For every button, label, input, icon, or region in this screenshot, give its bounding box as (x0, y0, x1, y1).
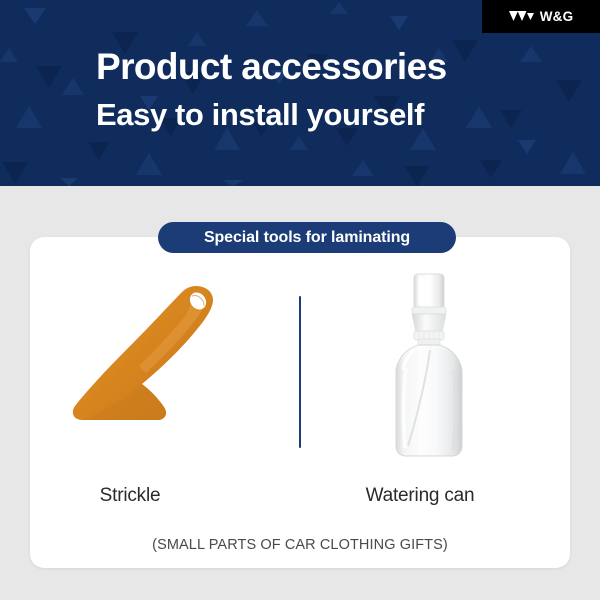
badge-label: Special tools for laminating (204, 229, 410, 247)
spray-bottle-icon (302, 270, 570, 460)
vertical-divider (299, 296, 301, 448)
brand-logo: W&G (482, 0, 600, 33)
squeegee-scraper-icon (30, 270, 298, 460)
triangles-logo-icon (509, 11, 535, 22)
product-label-watering-can: Watering can (300, 485, 540, 507)
promo-banner-page: W&G Product accessories Easy to install … (0, 0, 600, 600)
product-item-watering-can (302, 270, 570, 490)
page-title: Product accessories (96, 48, 447, 86)
footnote-text: (SMALL PARTS OF CAR CLOTHING GIFTS) (30, 537, 570, 553)
header-banner: W&G Product accessories Easy to install … (0, 0, 600, 186)
brand-name: W&G (540, 9, 574, 24)
product-item-strickle (30, 270, 298, 490)
status-badge: Special tools for laminating (158, 222, 456, 253)
page-subtitle: Easy to install yourself (96, 99, 424, 131)
product-label-strickle: Strickle (10, 485, 250, 507)
